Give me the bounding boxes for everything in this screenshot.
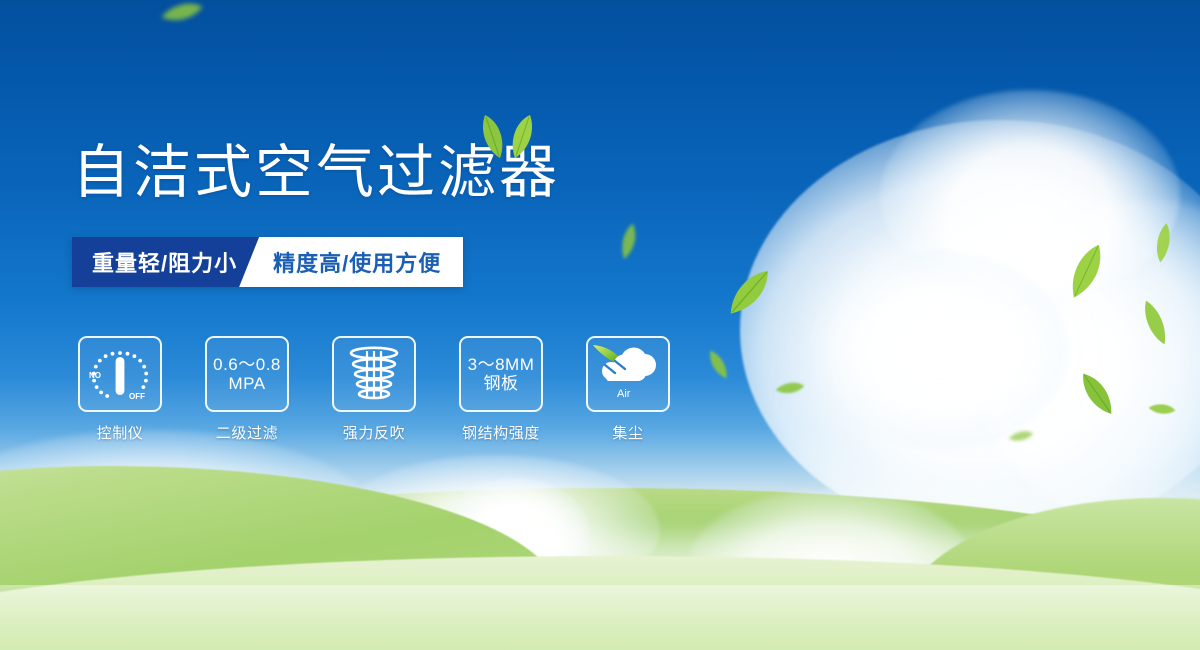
subtitle-left-text: 重量轻/阻力小 (72, 237, 259, 287)
sprout-leaf-right (513, 115, 532, 158)
subtitle-banner: 重量轻/阻力小 精度高/使用方便 (72, 237, 463, 287)
feature-label-control-unit: 控制仪 (97, 422, 144, 443)
air-cloud-icon: Air (591, 343, 665, 405)
grass-hill-right (900, 498, 1200, 650)
cloud-horizon-haze (0, 520, 1200, 630)
feature-item-steel-strength[interactable]: 3〜8MM 钢板 钢结构强度 (459, 336, 543, 443)
cloud-mid-horizon (330, 455, 660, 605)
feature-box-control-unit: NO OFF (78, 336, 162, 412)
sprout-leaves-decoration (473, 112, 543, 160)
floating-leaf-1 (605, 218, 650, 267)
cloud-right-main (740, 120, 1200, 540)
grass-highlight-sheen (0, 585, 1200, 650)
feature-label-steel-strength: 钢结构强度 (462, 422, 540, 443)
cloud-right-lobe (810, 250, 1070, 450)
floating-leaf-7 (1132, 294, 1179, 352)
grass-field-foreground (0, 556, 1200, 650)
steel-thickness-line1: 3〜8MM (468, 355, 535, 374)
grass-hill-left (0, 466, 560, 650)
filter-coil-icon (343, 345, 405, 403)
floating-leaf-10 (158, 0, 206, 29)
feature-label-two-stage-filter: 二级过滤 (216, 422, 278, 443)
feature-item-two-stage-filter[interactable]: 0.6〜0.8 MPA 二级过滤 (205, 336, 289, 443)
feature-list: NO OFF 控制仪 0.6〜0.8 MPA 二级过滤 (78, 336, 670, 443)
grass-hill-background (0, 488, 1200, 650)
feature-label-dust-collection: 集尘 (612, 422, 643, 443)
floating-leaf-2 (706, 249, 792, 335)
pressure-value-line2: MPA (228, 374, 265, 393)
sprout-leaf-left (483, 115, 502, 158)
product-hero-banner: 自洁式空气过滤器 重量轻/阻力小 精度高/使用方便 (0, 0, 1200, 650)
cloud-left-horizon (0, 430, 380, 620)
floating-leaf-8 (1058, 356, 1135, 432)
dial-on-label: NO (89, 371, 101, 380)
feature-box-steel-strength: 3〜8MM 钢板 (459, 336, 543, 412)
floating-leaf-9 (1147, 399, 1177, 420)
floating-leaf-6 (1148, 220, 1179, 266)
floating-leaf-11 (1007, 425, 1036, 446)
air-label: Air (617, 388, 631, 400)
feature-item-dust-collection[interactable]: Air 集尘 (586, 336, 670, 443)
cloud-mid-puff (440, 478, 590, 588)
cloud-far-right-edge (980, 200, 1200, 530)
cloud-right-top (880, 90, 1180, 300)
feature-box-two-stage-filter: 0.6〜0.8 MPA (205, 336, 289, 412)
steel-thickness-line2: 钢板 (484, 374, 519, 393)
dial-gauge-icon: NO OFF (85, 343, 155, 405)
floating-leaf-4 (774, 376, 806, 400)
feature-item-strong-blowback[interactable]: 强力反吹 (332, 336, 416, 443)
cloud-right-horizon (690, 490, 970, 630)
subtitle-right-text: 精度高/使用方便 (239, 237, 463, 287)
feature-label-strong-blowback: 强力反吹 (343, 422, 405, 443)
feature-item-control-unit[interactable]: NO OFF 控制仪 (78, 336, 162, 443)
pressure-value-line1: 0.6〜0.8 (213, 355, 281, 374)
feature-box-dust-collection: Air (586, 336, 670, 412)
floating-leaf-5 (1049, 232, 1123, 311)
dial-off-label: OFF (129, 392, 145, 401)
feature-box-strong-blowback (332, 336, 416, 412)
floating-leaf-3 (692, 341, 743, 390)
